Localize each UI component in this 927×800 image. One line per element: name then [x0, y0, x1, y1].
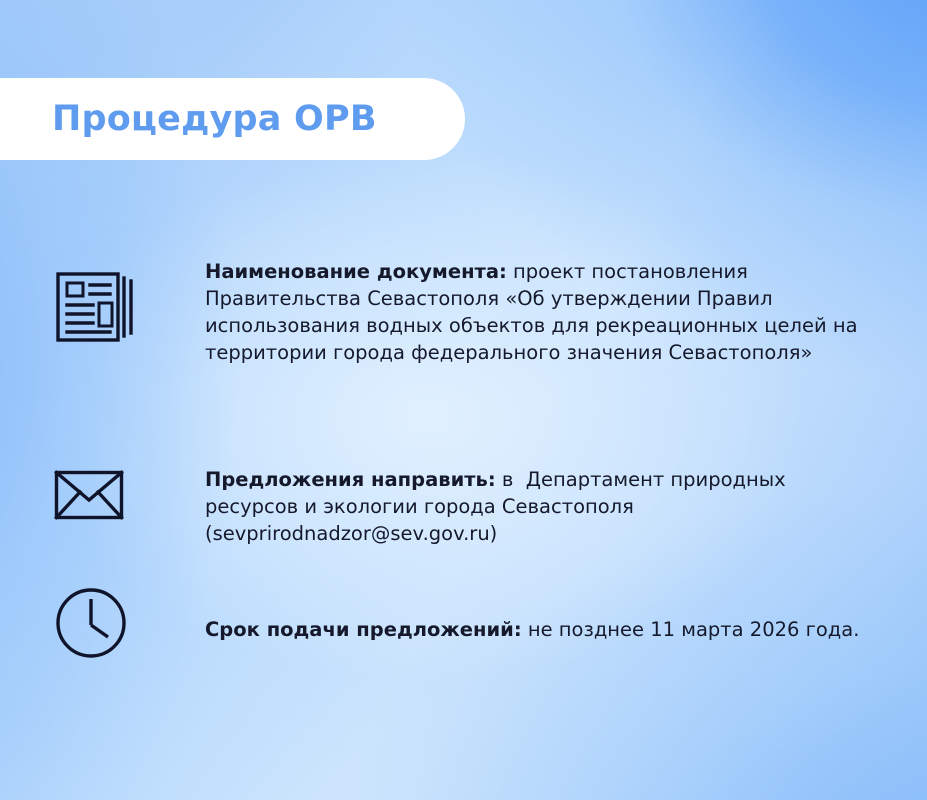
info-row-deadline: Срок подачи предложений: не позднее 11 м… [54, 586, 859, 660]
title-pill: Процедура ОРВ [0, 78, 465, 160]
deadline-text: Срок подачи предложений: не позднее 11 м… [205, 586, 859, 643]
info-row-document: Наименование документа: проект постановл… [54, 258, 865, 366]
envelope-icon [54, 462, 205, 520]
document-name-text: Наименование документа: проект постановл… [205, 258, 865, 366]
page-title: Процедура ОРВ [52, 102, 377, 137]
clock-icon [54, 586, 205, 660]
submission-target-label: Предложения направить: [205, 468, 496, 491]
newspaper-document-icon [54, 258, 205, 344]
submission-target-text: Предложения направить: в Департамент при… [205, 462, 865, 547]
deadline-value: не позднее 11 марта 2026 года. [522, 618, 860, 641]
slide-canvas: Процедура ОРВ [0, 0, 927, 800]
info-row-email: Предложения направить: в Департамент при… [54, 462, 865, 547]
document-name-label: Наименование документа: [205, 260, 507, 283]
deadline-label: Срок подачи предложений: [205, 618, 522, 641]
